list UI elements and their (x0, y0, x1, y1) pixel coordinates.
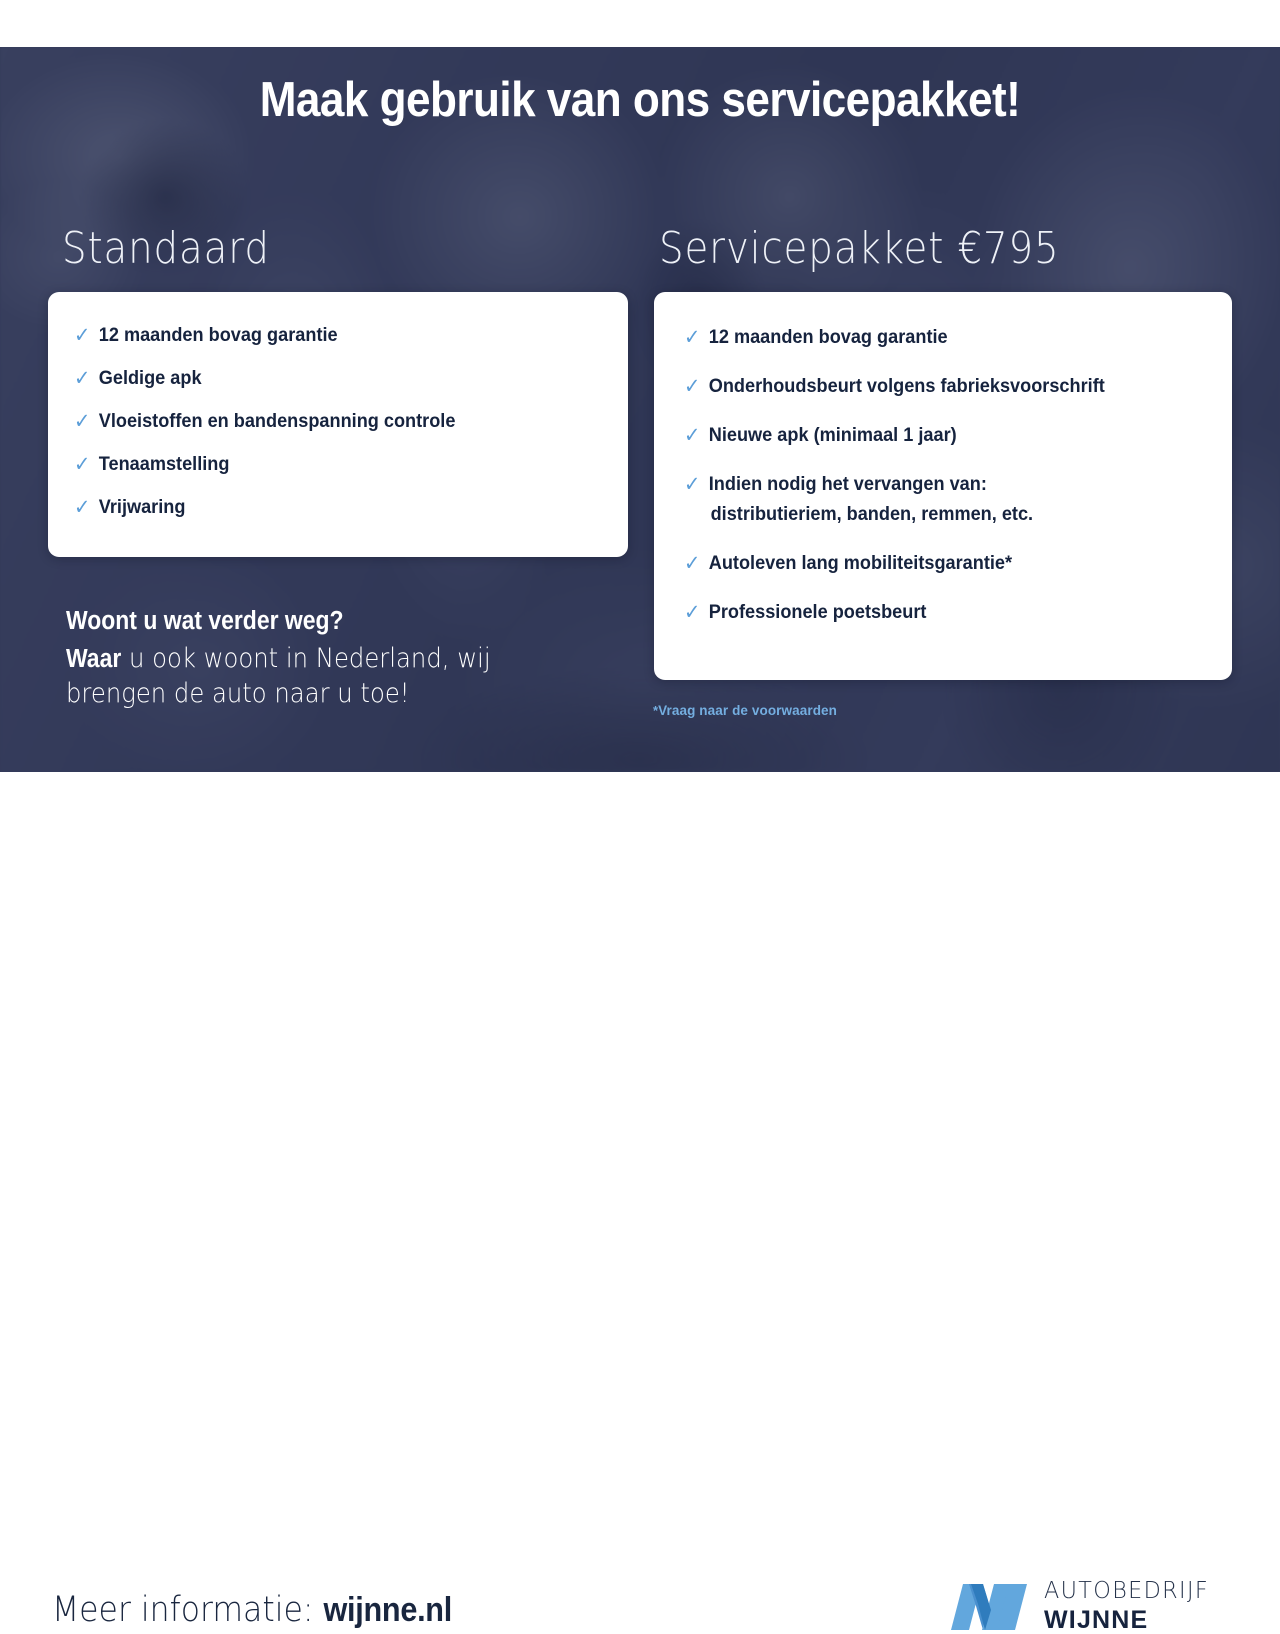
standaard-feature-list: ✓ 12 maanden bovag garantie ✓ Geldige ap… (48, 292, 628, 519)
check-icon: ✓ (74, 367, 90, 389)
wijnne-logo-mark (951, 1582, 1027, 1632)
list-item: ✓ 12 maanden bovag garantie (74, 324, 589, 347)
more-info-text: Meer informatie: wijnne.nl (52, 1590, 452, 1630)
footnote-label: Vraag naar de voorwaarden (658, 703, 837, 718)
list-item-line2: distributieriem, banden, remmen, etc. (709, 503, 1033, 526)
check-icon: ✓ (684, 424, 700, 446)
check-icon: ✓ (74, 496, 90, 518)
standaard-card: ✓ 12 maanden bovag garantie ✓ Geldige ap… (48, 292, 628, 557)
promo-emphasis: Waar (66, 645, 121, 673)
list-item-line1: Professionele poetsbeurt (709, 601, 927, 623)
column-title-servicepakket: Servicepakket €795 (659, 223, 1060, 274)
list-item: ✓ Indien nodig het vervangen van: distri… (684, 473, 1194, 526)
promo-body: Waar u ook woont in Nederland, wij breng… (66, 643, 491, 710)
list-item-label: Indien nodig het vervangen van: distribu… (709, 473, 1033, 526)
list-item: ✓ Vloeistoffen en bandenspanning control… (74, 410, 589, 433)
list-item: ✓ 12 maanden bovag garantie (684, 326, 1194, 349)
list-item-line1: 12 maanden bovag garantie (709, 326, 948, 348)
promo-question: Woont u wat verder weg? (66, 605, 570, 639)
list-item-label: Vloeistoffen en bandenspanning controle (99, 410, 456, 433)
check-icon: ✓ (74, 410, 90, 432)
list-item-line1: Indien nodig het vervangen van: (709, 473, 987, 495)
check-icon: ✓ (684, 326, 700, 348)
company-logo: AUTOBEDRIJF WIJNNE (951, 1580, 1214, 1633)
list-item-label: 12 maanden bovag garantie (709, 326, 948, 349)
servicepakket-card: ✓ 12 maanden bovag garantie ✓ Onderhouds… (654, 292, 1232, 680)
check-icon: ✓ (684, 552, 700, 574)
list-item-label: 12 maanden bovag garantie (99, 324, 338, 347)
list-item: ✓ Onderhoudsbeurt volgens fabrieksvoorsc… (684, 375, 1194, 398)
list-item-label: Nieuwe apk (minimaal 1 jaar) (709, 424, 957, 447)
check-icon: ✓ (684, 375, 700, 397)
list-item-label: Autoleven lang mobiliteitsgarantie* (709, 552, 1012, 575)
list-item: ✓ Professionele poetsbeurt (684, 601, 1194, 624)
logo-wordmark: AUTOBEDRIJF WIJNNE (1044, 1580, 1214, 1633)
list-item: ✓ Nieuwe apk (minimaal 1 jaar) (684, 424, 1194, 447)
list-item: ✓ Geldige apk (74, 367, 589, 390)
list-item-label: Geldige apk (99, 367, 202, 390)
check-icon: ✓ (74, 453, 90, 475)
check-icon: ✓ (74, 324, 90, 346)
list-item-line1: Onderhoudsbeurt volgens fabrieksvoorschr… (709, 375, 1105, 397)
check-icon: ✓ (684, 473, 700, 495)
list-item: ✓ Tenaamstelling (74, 453, 589, 476)
more-info-label: Meer informatie: (52, 1590, 323, 1630)
list-item-label: Onderhoudsbeurt volgens fabrieksvoorschr… (709, 375, 1105, 398)
logo-top-label: AUTOBEDRIJF (1044, 1580, 1209, 1603)
website-link[interactable]: wijnne.nl (323, 1591, 451, 1629)
footer-bar: Meer informatie: wijnne.nl AUTOBEDRIJF W… (0, 772, 1280, 960)
promo-line2-rest: u ook woont in Nederland, wij (121, 643, 490, 674)
list-item-label: Vrijwaring (99, 496, 186, 519)
list-item: ✓ Autoleven lang mobiliteitsgarantie* (684, 552, 1194, 575)
promo-banner: Maak gebruik van ons servicepakket! Stan… (0, 0, 1280, 960)
delivery-promo-text: Woont u wat verder weg? Waar u ook woont… (66, 605, 570, 712)
promo-line3: brengen de auto naar u toe! (66, 678, 410, 709)
list-item-line1: Nieuwe apk (minimaal 1 jaar) (709, 424, 957, 446)
logo-bottom-label: WIJNNE (1044, 1608, 1214, 1633)
list-item-line1: Autoleven lang mobiliteitsgarantie* (709, 552, 1012, 574)
column-title-standaard: Standaard (62, 223, 270, 274)
conditions-footnote: *Vraag naar de voorwaarden (653, 703, 837, 718)
list-item: ✓ Vrijwaring (74, 496, 589, 519)
list-item-label: Tenaamstelling (99, 453, 230, 476)
page-headline: Maak gebruik van ons servicepakket! (64, 72, 1216, 128)
check-icon: ✓ (684, 601, 700, 623)
servicepakket-feature-list: ✓ 12 maanden bovag garantie ✓ Onderhouds… (654, 292, 1232, 624)
list-item-label: Professionele poetsbeurt (709, 601, 927, 624)
